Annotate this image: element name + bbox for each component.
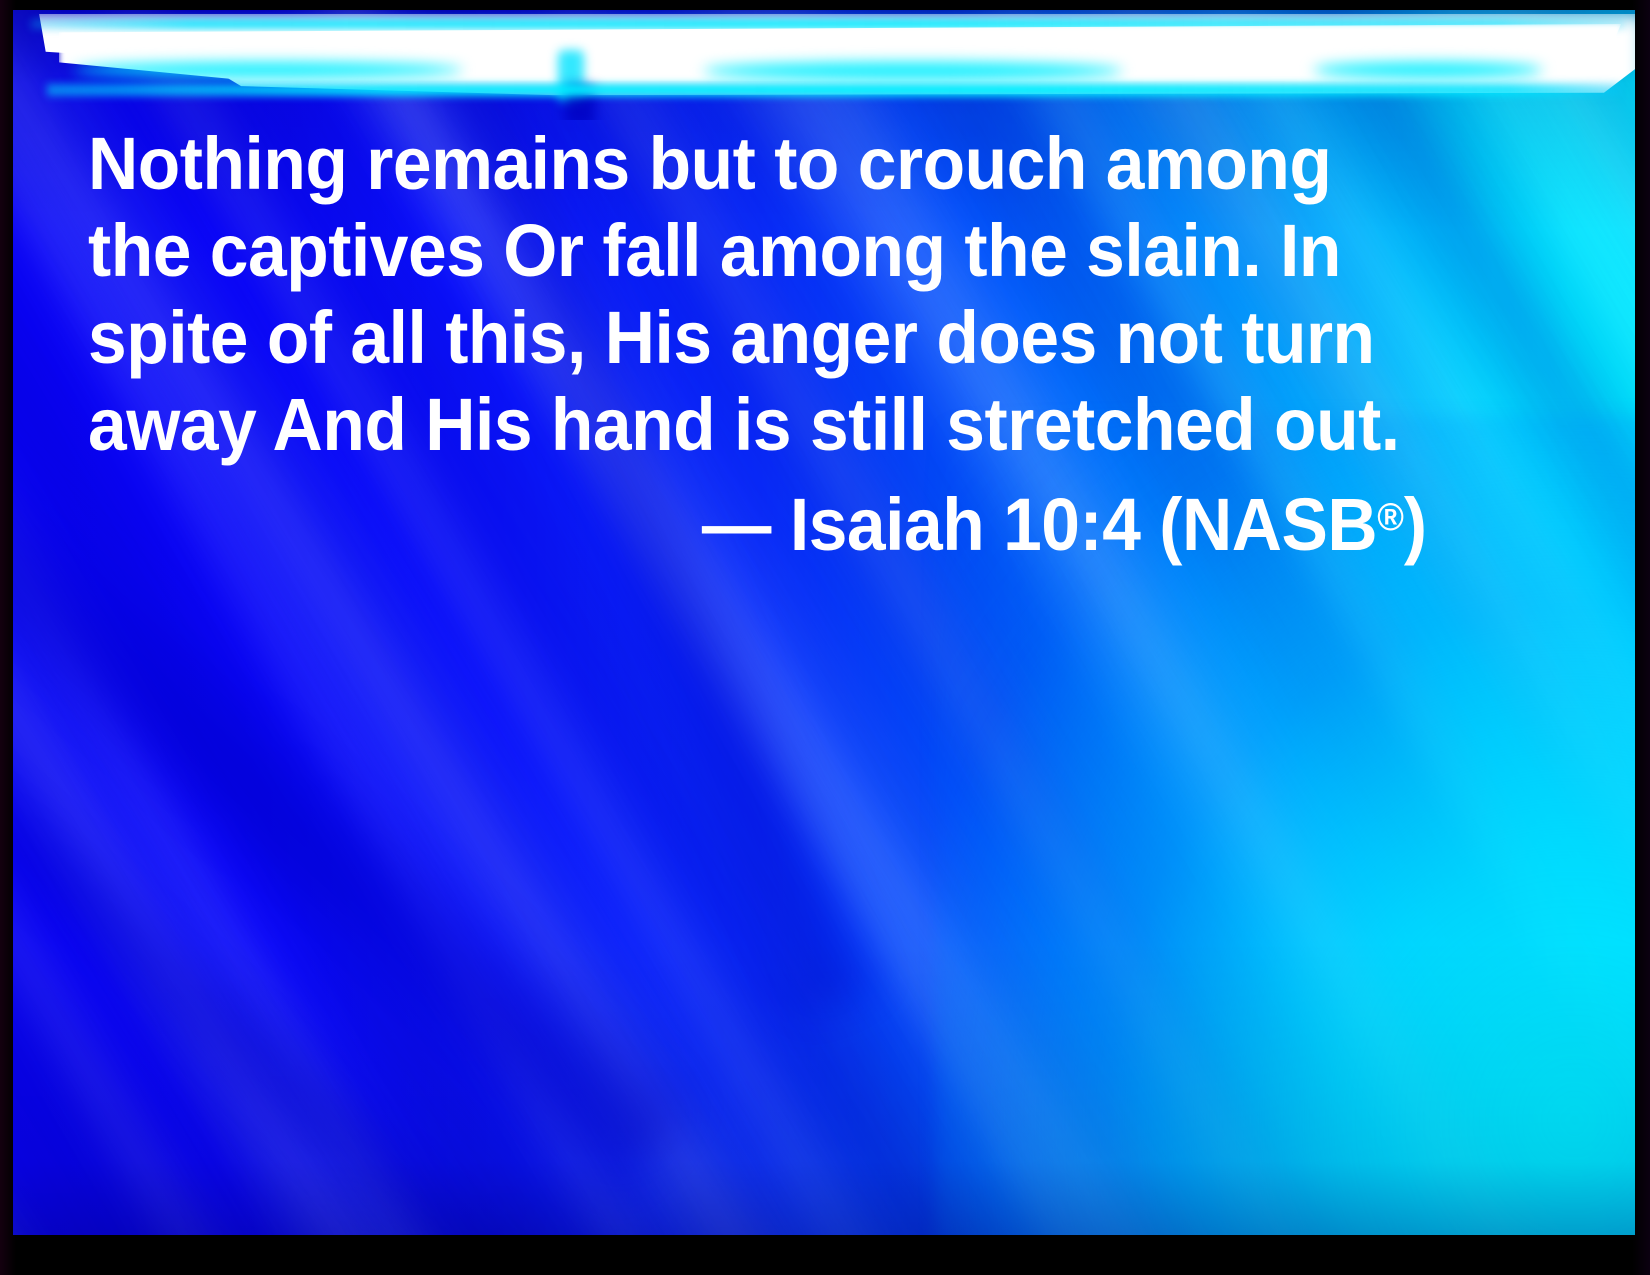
slide-artboard: Nothing remains but to crouch among the … [13, 10, 1635, 1235]
attribution-reference: — Isaiah 10:4 (NASB [702, 483, 1377, 566]
verse-body-text: Nothing remains but to crouch among the … [88, 120, 1432, 468]
attribution-close-paren: ) [1404, 483, 1427, 566]
top-light-bar [13, 10, 1635, 120]
top-bar-cyan-wisp [1313, 62, 1543, 78]
verse-block: Nothing remains but to crouch among the … [88, 120, 1432, 568]
top-bar-cyan-wisp [73, 62, 463, 78]
verse-slide: Nothing remains but to crouch among the … [0, 0, 1650, 1275]
verse-attribution: — Isaiah 10:4 (NASB®) [88, 474, 1432, 568]
registered-trademark-icon: ® [1377, 496, 1404, 539]
top-bar-cyan-wisp [703, 62, 1123, 80]
top-bar-cyan-underline [47, 84, 1619, 96]
